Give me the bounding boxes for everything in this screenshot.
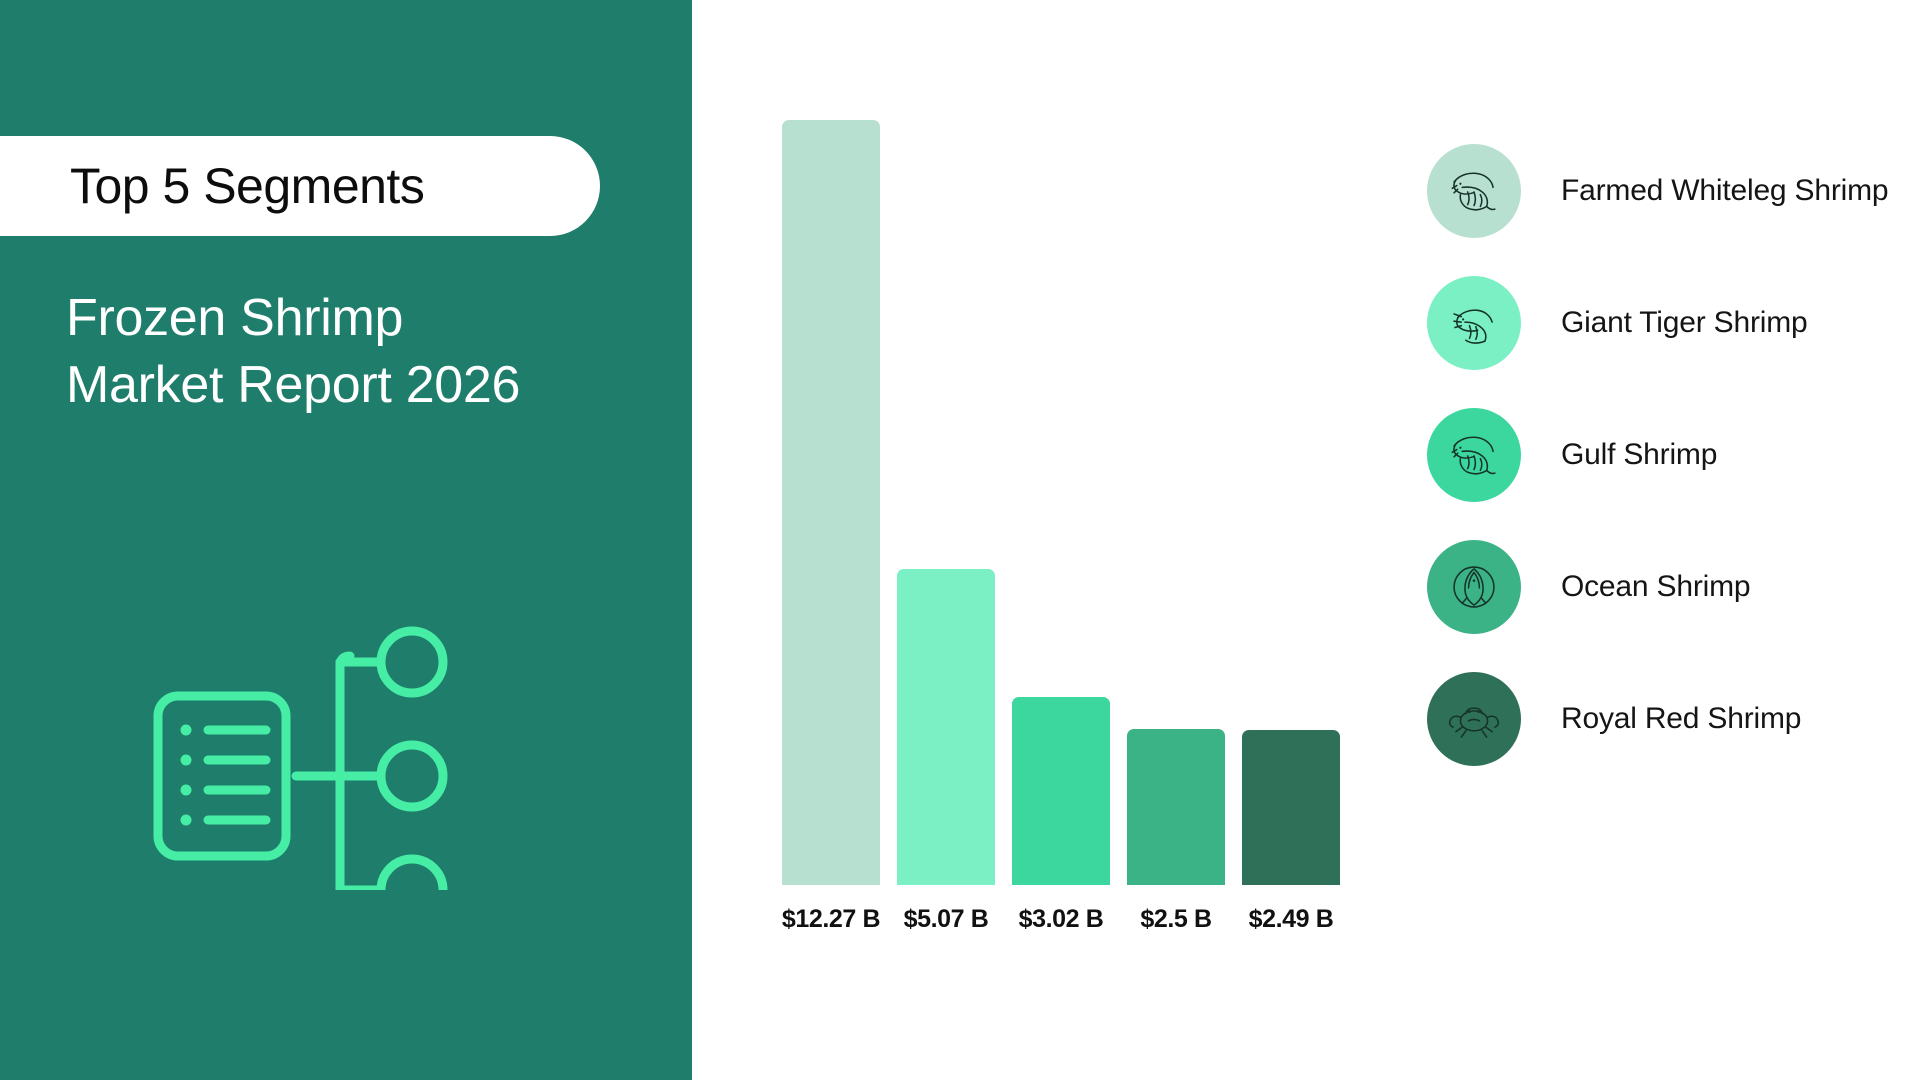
page-title-line-1: Frozen Shrimp — [66, 285, 646, 352]
bar-value-label: $3.02 B — [1019, 905, 1104, 934]
bar-column: $2.5 B — [1127, 120, 1225, 885]
legend-item: Giant Tiger Shrimp — [1427, 257, 1907, 389]
bar-rect — [1012, 697, 1110, 885]
legend-item-label: Farmed Whiteleg Shrimp — [1561, 174, 1888, 208]
bar-rect — [1127, 729, 1225, 885]
bar-column: $3.02 B — [1012, 120, 1110, 885]
tiger-shrimp-icon — [1427, 276, 1521, 370]
bar-column: $2.49 B — [1242, 120, 1340, 885]
page-title-line-2: Market Report 2026 — [66, 352, 646, 419]
bar-value-label: $5.07 B — [904, 905, 989, 934]
bar-rect — [1242, 730, 1340, 885]
shrimp-icon — [1427, 144, 1521, 238]
chart-legend: Farmed Whiteleg ShrimpGiant Tiger Shrimp… — [1427, 125, 1907, 785]
shrimp-icon — [1427, 408, 1521, 502]
crab-icon — [1427, 672, 1521, 766]
bar-column: $12.27 B — [782, 120, 880, 885]
bar-value-label: $2.49 B — [1249, 905, 1334, 934]
legend-item: Ocean Shrimp — [1427, 521, 1907, 653]
badge-label: Top 5 Segments — [70, 157, 424, 215]
bar-value-label: $2.5 B — [1140, 905, 1211, 934]
segmentation-list-icon — [150, 600, 480, 890]
legend-item-label: Giant Tiger Shrimp — [1561, 306, 1808, 340]
bar-rect — [782, 120, 880, 885]
legend-item-label: Gulf Shrimp — [1561, 438, 1717, 472]
legend-item: Farmed Whiteleg Shrimp — [1427, 125, 1907, 257]
legend-item: Royal Red Shrimp — [1427, 653, 1907, 785]
chart-area: $12.27 B$5.07 B$3.02 B$2.5 B$2.49 B Farm… — [692, 0, 1920, 1080]
bar-column: $5.07 B — [897, 120, 995, 885]
left-panel: Top 5 Segments Frozen Shrimp Market Repo… — [0, 0, 692, 1080]
bar-chart-plot: $12.27 B$5.07 B$3.02 B$2.5 B$2.49 B — [782, 120, 1342, 885]
page-title: Frozen Shrimp Market Report 2026 — [66, 285, 646, 418]
legend-item-label: Royal Red Shrimp — [1561, 702, 1801, 736]
top-segments-badge: Top 5 Segments — [0, 136, 600, 236]
bar-rect — [897, 569, 995, 885]
bar-value-label: $12.27 B — [782, 905, 880, 934]
legend-item-label: Ocean Shrimp — [1561, 570, 1750, 604]
ocean-fish-icon — [1427, 540, 1521, 634]
legend-item: Gulf Shrimp — [1427, 389, 1907, 521]
